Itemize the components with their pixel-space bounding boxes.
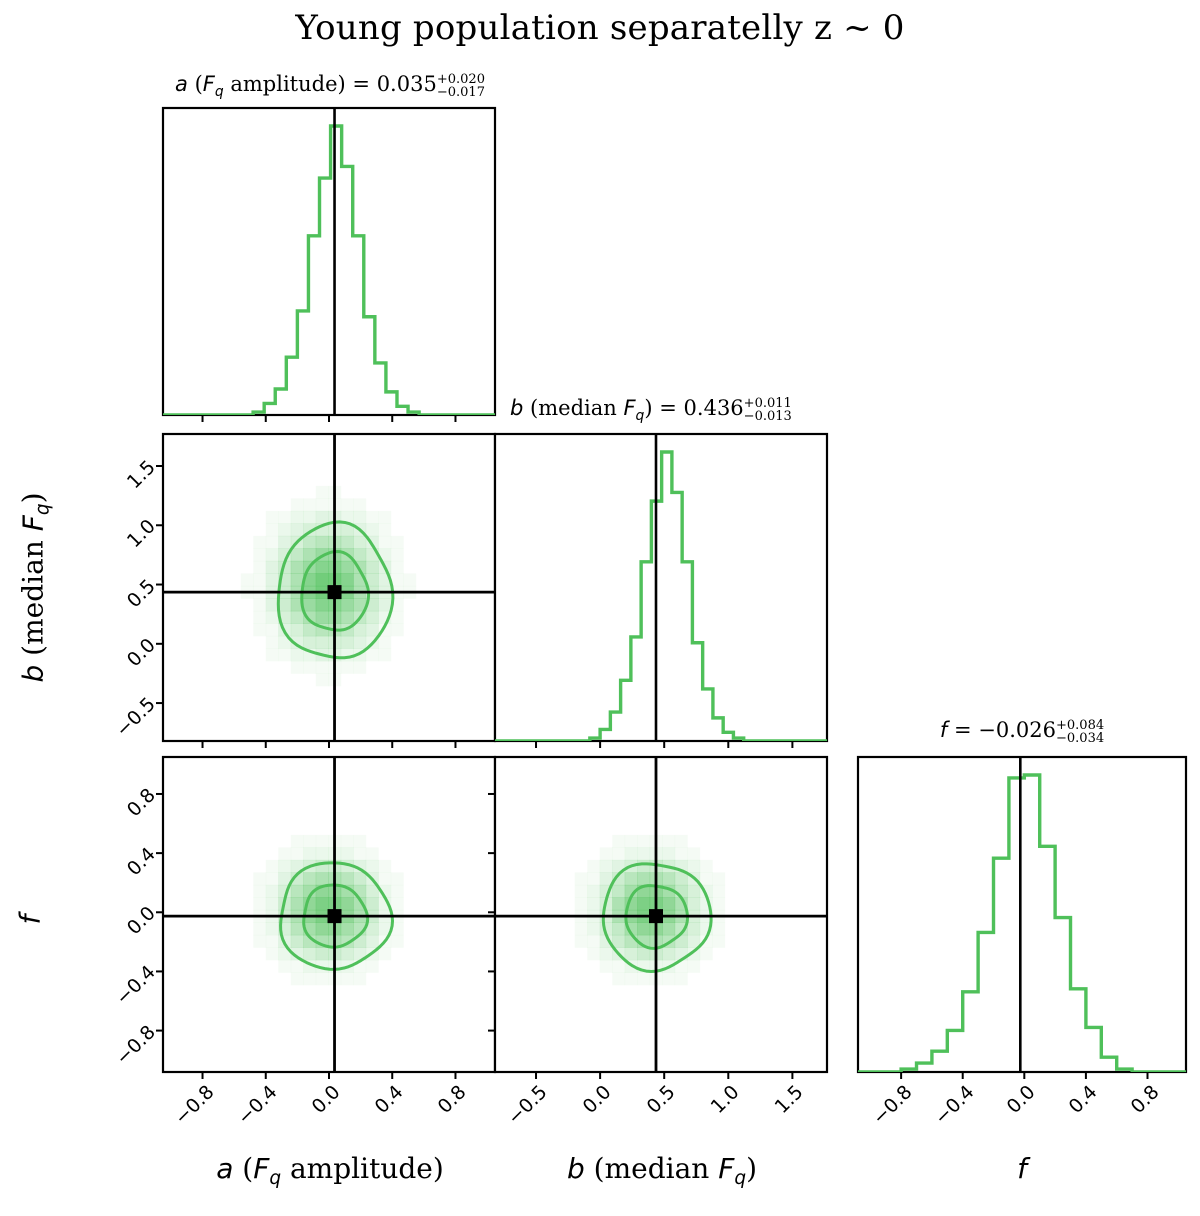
density-cell [712, 885, 725, 898]
density-cell [316, 972, 329, 985]
density-cell [675, 972, 688, 985]
density-cell [353, 536, 366, 549]
density-cell [253, 623, 266, 636]
density-cell [378, 511, 391, 524]
density-cell [700, 872, 713, 885]
density-cell [253, 897, 266, 910]
density-cell [266, 935, 279, 948]
density-cell [303, 835, 316, 848]
density-cell [291, 897, 304, 910]
density-cell [587, 922, 600, 935]
density-cell [303, 498, 316, 511]
density-cell [303, 972, 316, 985]
density-cell [278, 648, 291, 661]
density-cell [625, 835, 638, 848]
density-cell [378, 872, 391, 885]
density-cell [575, 885, 588, 898]
density-cell [391, 536, 404, 549]
density-cell [266, 648, 279, 661]
density-cell [600, 947, 613, 960]
density-cell [278, 511, 291, 524]
density-cell [341, 598, 354, 611]
density-cell [391, 935, 404, 948]
density-cell [575, 897, 588, 910]
density-cell [353, 847, 366, 860]
density-cell [662, 847, 675, 860]
density-cell [341, 972, 354, 985]
density-cell [662, 872, 675, 885]
density-cell [316, 673, 329, 686]
density-cell [366, 847, 379, 860]
density-cell [662, 897, 675, 910]
density-cell [625, 872, 638, 885]
plot-canvas [0, 0, 1200, 1216]
truth-marker [328, 909, 342, 923]
density-cell [316, 498, 329, 511]
density-cell [278, 847, 291, 860]
density-cell [266, 947, 279, 960]
density-cell [687, 847, 700, 860]
density-cell [403, 573, 416, 586]
density-cell [303, 636, 316, 649]
density-cell [291, 835, 304, 848]
density-cell [700, 947, 713, 960]
density-cell [316, 897, 329, 910]
density-cell [341, 648, 354, 661]
density-cell [662, 972, 675, 985]
density-cell [303, 847, 316, 860]
density-cell [612, 935, 625, 948]
density-cell [316, 486, 329, 499]
density-cell [612, 922, 625, 935]
density-cell [266, 872, 279, 885]
density-cell [687, 860, 700, 873]
density-cell [391, 872, 404, 885]
density-cell [291, 885, 304, 898]
density-cell [378, 523, 391, 536]
density-cell [637, 947, 650, 960]
density-cell [278, 960, 291, 973]
density-cell [391, 561, 404, 574]
density-cell [303, 661, 316, 674]
density-cell [303, 947, 316, 960]
density-cell [253, 598, 266, 611]
density-cell [253, 611, 266, 624]
density-cell [612, 960, 625, 973]
density-cell [687, 960, 700, 973]
density-cell [266, 511, 279, 524]
density-cell [291, 623, 304, 636]
density-cell [291, 661, 304, 674]
density-cell [612, 972, 625, 985]
density-cell [253, 548, 266, 561]
density-cell [316, 636, 329, 649]
density-cell [316, 835, 329, 848]
density-cell [316, 847, 329, 860]
density-cell [266, 523, 279, 536]
density-cell [675, 872, 688, 885]
density-cell [341, 561, 354, 574]
density-cell [266, 922, 279, 935]
density-cell [378, 598, 391, 611]
density-cell [266, 611, 279, 624]
density-cell [291, 523, 304, 536]
density-cell [637, 860, 650, 873]
density-cell [378, 648, 391, 661]
density-cell [700, 860, 713, 873]
density-cell [341, 661, 354, 674]
density-cell [278, 860, 291, 873]
panel-frame-c2-r2 [858, 757, 1186, 1072]
density-cell [316, 536, 329, 549]
density-cell [587, 935, 600, 948]
density-cell [391, 611, 404, 624]
density-cell [291, 960, 304, 973]
density-cell [391, 623, 404, 636]
density-cell [341, 573, 354, 586]
density-cell [266, 623, 279, 636]
density-cell [316, 661, 329, 674]
density-cell [253, 885, 266, 898]
density-cell [303, 872, 316, 885]
density-cell [353, 511, 366, 524]
density-cell [316, 561, 329, 574]
truth-marker [328, 585, 342, 599]
density-cell [266, 860, 279, 873]
density-cell [675, 835, 688, 848]
density-cell [316, 573, 329, 586]
density-cell [378, 636, 391, 649]
density-cell [266, 636, 279, 649]
density-cell [391, 885, 404, 898]
density-cell [291, 498, 304, 511]
truth-marker [649, 909, 663, 923]
density-cell [637, 922, 650, 935]
density-cell [366, 561, 379, 574]
density-cell [291, 611, 304, 624]
density-cell [366, 960, 379, 973]
density-cell [575, 872, 588, 885]
density-cell [278, 598, 291, 611]
density-cell [303, 598, 316, 611]
density-cell [391, 897, 404, 910]
density-cell [353, 872, 366, 885]
density-cell [366, 897, 379, 910]
density-cell [366, 611, 379, 624]
density-cell [587, 872, 600, 885]
density-cell [291, 561, 304, 574]
density-cell [341, 922, 354, 935]
density-cell [353, 548, 366, 561]
density-cell [266, 561, 279, 574]
density-cell [600, 860, 613, 873]
density-cell [366, 623, 379, 636]
density-cell [253, 935, 266, 948]
density-cell [712, 872, 725, 885]
density-cell [341, 847, 354, 860]
density-cell [303, 536, 316, 549]
density-cell [316, 611, 329, 624]
density-cell [253, 573, 266, 586]
density-cell [278, 523, 291, 536]
density-cell [625, 972, 638, 985]
density-cell [291, 972, 304, 985]
density-cell [353, 661, 366, 674]
density-cell [637, 872, 650, 885]
density-cell [291, 922, 304, 935]
density-cell [637, 897, 650, 910]
density-cell [266, 548, 279, 561]
density-cell [600, 847, 613, 860]
density-cell [303, 511, 316, 524]
density-cell [303, 548, 316, 561]
corner-plot-figure: Young population separatelly z ~ 0 a (Fq… [0, 0, 1200, 1216]
density-cell [366, 860, 379, 873]
density-cell [366, 648, 379, 661]
density-cell [366, 511, 379, 524]
density-cell [587, 947, 600, 960]
density-cell [316, 947, 329, 960]
density-cell [575, 935, 588, 948]
density-cell [378, 860, 391, 873]
density-cell [637, 835, 650, 848]
density-cell [662, 835, 675, 848]
density-cell [637, 847, 650, 860]
density-cell [612, 885, 625, 898]
density-cell [625, 947, 638, 960]
density-cell [587, 897, 600, 910]
density-cell [378, 536, 391, 549]
density-cell [341, 536, 354, 549]
density-cell [341, 872, 354, 885]
density-cell [625, 847, 638, 860]
density-cell [662, 947, 675, 960]
density-cell [253, 872, 266, 885]
density-cell [366, 935, 379, 948]
density-cell [291, 548, 304, 561]
density-cell [712, 897, 725, 910]
density-cell [341, 947, 354, 960]
density-cell [662, 922, 675, 935]
density-cell [587, 860, 600, 873]
density-cell [266, 598, 279, 611]
density-cell [316, 598, 329, 611]
density-cell [687, 897, 700, 910]
density-cell [341, 611, 354, 624]
density-cell [612, 835, 625, 848]
density-cell [675, 847, 688, 860]
density-cell [687, 885, 700, 898]
density-cell [353, 623, 366, 636]
density-cell [687, 922, 700, 935]
density-cell [612, 847, 625, 860]
density-cell [253, 536, 266, 549]
density-cell [391, 548, 404, 561]
density-cell [278, 536, 291, 549]
density-cell [341, 498, 354, 511]
density-cell [266, 897, 279, 910]
density-cell [353, 972, 366, 985]
density-cell [291, 648, 304, 661]
density-cell [253, 561, 266, 574]
density-cell [587, 885, 600, 898]
density-cell [575, 922, 588, 935]
density-cell [266, 885, 279, 898]
density-cell [316, 511, 329, 524]
density-cell [712, 922, 725, 935]
density-cell [353, 636, 366, 649]
density-cell [378, 947, 391, 960]
density-cell [712, 935, 725, 948]
density-cell [291, 935, 304, 948]
density-cell [316, 922, 329, 935]
density-cell [266, 536, 279, 549]
density-cell [341, 897, 354, 910]
density-cell [316, 872, 329, 885]
density-cell [353, 835, 366, 848]
density-cell [353, 498, 366, 511]
density-cell [266, 573, 279, 586]
density-cell [341, 835, 354, 848]
density-cell [291, 847, 304, 860]
density-cell [241, 573, 254, 586]
density-cell [600, 960, 613, 973]
density-cell [366, 523, 379, 536]
density-cell [637, 972, 650, 985]
density-cell [341, 636, 354, 649]
density-cell [253, 922, 266, 935]
density-cell [612, 897, 625, 910]
density-cell [291, 511, 304, 524]
